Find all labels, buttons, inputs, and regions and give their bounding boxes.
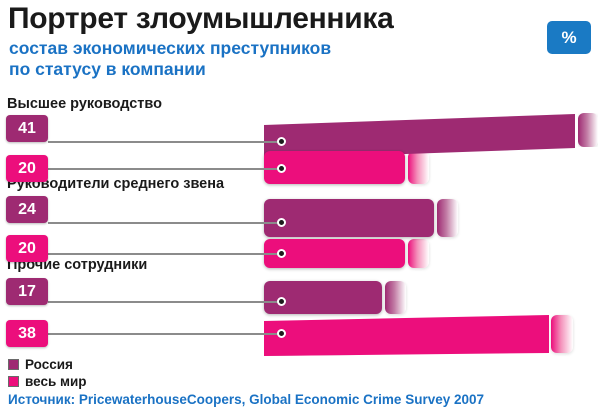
legend: Россия весь мир — [8, 357, 87, 391]
value-badge-row-1: 20 — [6, 155, 48, 182]
bar-tail-row-0 — [578, 113, 598, 147]
legend-label-world: весь мир — [25, 374, 87, 389]
value-badge-row-0: 41 — [6, 115, 48, 142]
page-title: Портрет злоумышленника — [8, 2, 394, 36]
bar-tail-row-4 — [385, 281, 406, 314]
subtitle-line-1: состав экономических преступников — [9, 38, 331, 59]
value-badge-row-3: 20 — [6, 235, 48, 262]
percent-unit-badge: % — [547, 21, 591, 54]
legend-swatch-world-icon — [8, 376, 19, 387]
connector-dot-row-1 — [277, 164, 286, 173]
value-badge-row-4: 17 — [6, 278, 48, 305]
bar-tail-row-5 — [551, 315, 573, 353]
connector-dot-row-3 — [277, 249, 286, 258]
connector-line-row-1 — [48, 168, 282, 170]
legend-item-world: весь мир — [8, 374, 87, 389]
bar-row-5-world — [264, 315, 549, 356]
subtitle-line-2: по статусу в компании — [9, 59, 331, 80]
legend-label-russia: Россия — [25, 357, 73, 372]
bar-tail-row-3 — [408, 239, 429, 268]
connector-line-row-3 — [48, 253, 282, 255]
legend-item-russia: Россия — [8, 357, 87, 372]
connector-dot-row-4 — [277, 297, 286, 306]
connector-line-row-0 — [48, 141, 282, 143]
connector-dot-row-5 — [277, 329, 286, 338]
connector-line-row-5 — [48, 333, 282, 335]
page-subtitle: состав экономических преступников по ста… — [9, 38, 331, 79]
source-note: Источник: PricewaterhouseCoopers, Global… — [8, 392, 484, 407]
bar-row-2-russia — [264, 199, 434, 237]
connector-line-row-2 — [48, 222, 282, 224]
connector-dot-row-2 — [277, 218, 286, 227]
value-badge-row-5: 38 — [6, 320, 48, 347]
legend-swatch-russia-icon — [8, 359, 19, 370]
bar-tail-row-1 — [408, 151, 429, 184]
value-badge-row-2: 24 — [6, 196, 48, 223]
connector-dot-row-0 — [277, 137, 286, 146]
infographic-root: Портрет злоумышленника состав экономичес… — [0, 0, 600, 413]
bar-tail-row-2 — [437, 199, 458, 237]
category-label-0: Высшее руководство — [7, 96, 162, 112]
connector-line-row-4 — [48, 301, 282, 303]
